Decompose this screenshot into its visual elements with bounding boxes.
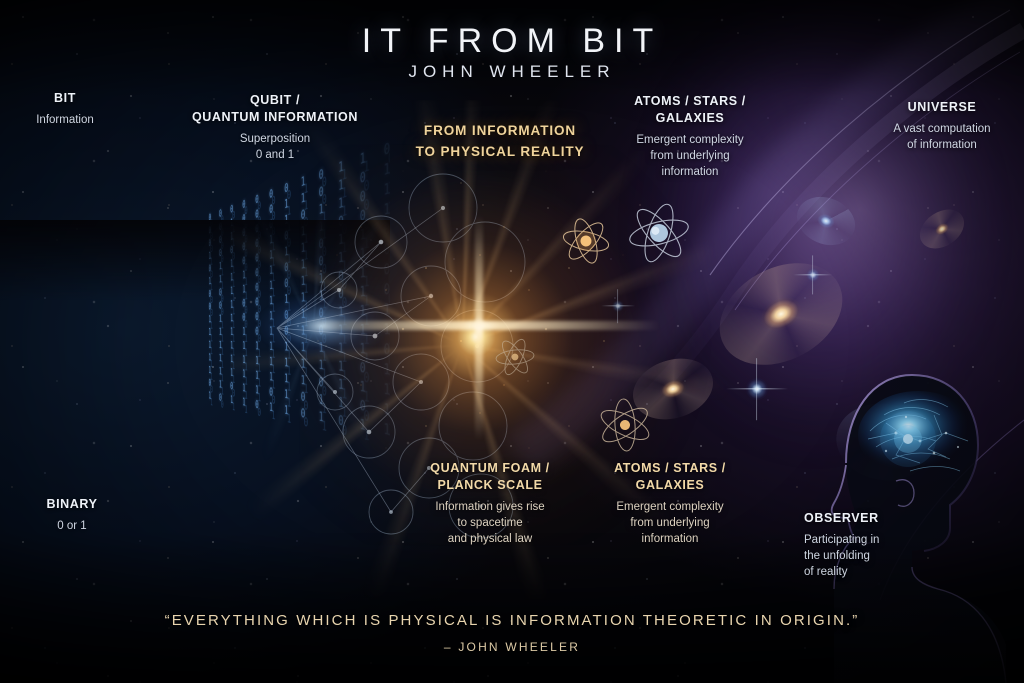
annotation-asg-top-body-3: information xyxy=(605,164,775,180)
annotation-bit-heading: BIT xyxy=(10,90,120,107)
annotation-universe-heading: UNIVERSE xyxy=(862,99,1022,116)
page-title: IT FROM BIT xyxy=(0,22,1024,61)
annotation-asg-bottom-heading-1: ATOMS / STARS / xyxy=(580,460,760,477)
wheeler-quote-attribution: – JOHN WHEELER xyxy=(0,640,1024,654)
annotation-asg-top-heading-1: ATOMS / STARS / xyxy=(605,93,775,110)
annotation-observer-body-3: of reality xyxy=(804,564,934,580)
poster-canvas: 0 0 0 0 0 0 0 1 0 1 1 0 0 1 0 1 1 0 1 0 … xyxy=(0,0,1024,683)
wheeler-quote: “EVERYTHING WHICH IS PHYSICAL IS INFORMA… xyxy=(0,612,1024,629)
annotation-observer-body-2: the unfolding xyxy=(804,548,934,564)
annotation-qubit-body-2: 0 and 1 xyxy=(175,147,375,163)
annotation-bit: BIT Information xyxy=(10,90,120,128)
annotation-universe-body-1: A vast computation xyxy=(862,121,1022,137)
annotation-qubit: QUBIT / QUANTUM INFORMATION Superpositio… xyxy=(175,92,375,163)
annotation-observer-heading: OBSERVER xyxy=(804,510,934,527)
center-headline: FROM INFORMATION TO PHYSICAL REALITY xyxy=(390,120,610,162)
annotation-quantum-foam: QUANTUM FOAM / PLANCK SCALE Information … xyxy=(400,460,580,547)
annotation-observer-body-1: Participating in xyxy=(804,532,934,548)
annotation-qubit-heading-1: QUBIT / xyxy=(175,92,375,109)
annotation-binary-body: 0 or 1 xyxy=(12,518,132,534)
annotation-asg-bottom-body-1: Emergent complexity xyxy=(580,499,760,515)
annotation-asg-top-heading-2: GALAXIES xyxy=(605,110,775,127)
center-headline-line-2: TO PHYSICAL REALITY xyxy=(390,141,610,162)
annotation-binary: BINARY 0 or 1 xyxy=(12,496,132,534)
annotation-asg-top-body-2: from underlying xyxy=(605,148,775,164)
annotation-observer: OBSERVER Participating in the unfolding … xyxy=(804,510,934,580)
annotation-quantum-foam-body-1: Information gives rise xyxy=(400,499,580,515)
annotation-asg-bottom-heading-2: GALAXIES xyxy=(580,477,760,494)
annotation-universe: UNIVERSE A vast computation of informati… xyxy=(862,99,1022,153)
annotation-bit-body: Information xyxy=(10,112,120,128)
annotation-universe-body-2: of information xyxy=(862,137,1022,153)
center-headline-line-1: FROM INFORMATION xyxy=(390,120,610,141)
annotation-qubit-heading-2: QUANTUM INFORMATION xyxy=(175,109,375,126)
annotation-qubit-body-1: Superposition xyxy=(175,131,375,147)
annotation-quantum-foam-body-3: and physical law xyxy=(400,531,580,547)
annotation-quantum-foam-heading-2: PLANCK SCALE xyxy=(400,477,580,494)
annotation-asg-bottom-body-3: information xyxy=(580,531,760,547)
annotation-asg-top-body-1: Emergent complexity xyxy=(605,132,775,148)
annotation-asg-bottom-body-2: from underlying xyxy=(580,515,760,531)
annotation-quantum-foam-heading-1: QUANTUM FOAM / xyxy=(400,460,580,477)
annotation-quantum-foam-body-2: to spacetime xyxy=(400,515,580,531)
page-subtitle: JOHN WHEELER xyxy=(0,62,1024,82)
annotation-text-layer: IT FROM BIT JOHN WHEELER BIT Information… xyxy=(0,0,1024,683)
annotation-atoms-stars-galaxies-bottom: ATOMS / STARS / GALAXIES Emergent comple… xyxy=(580,460,760,547)
annotation-atoms-stars-galaxies-top: ATOMS / STARS / GALAXIES Emergent comple… xyxy=(605,93,775,180)
annotation-binary-heading: BINARY xyxy=(12,496,132,513)
